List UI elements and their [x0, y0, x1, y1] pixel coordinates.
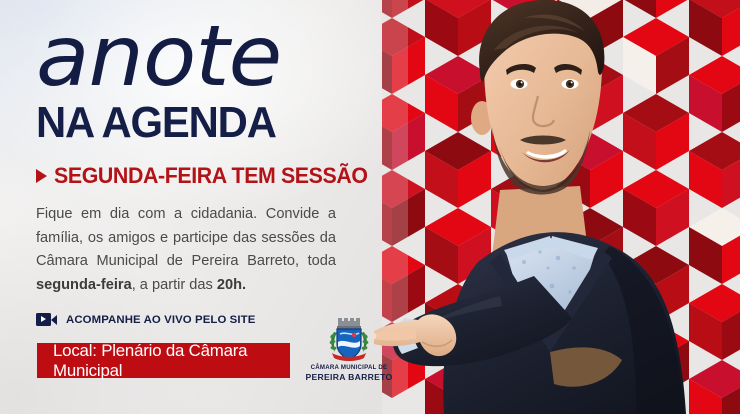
- location-label: Local: Plenário da Câmara Municipal: [53, 341, 288, 381]
- video-camera-icon: [36, 313, 57, 326]
- location-bar: Local: Plenário da Câmara Municipal: [37, 343, 290, 378]
- text-content-area: anote NA AGENDA SEGUNDA-FEIRA TEM SESSÃO…: [0, 0, 400, 414]
- coat-of-arms-icon: [328, 318, 370, 362]
- subheadline-text: SEGUNDA-FEIRA TEM SESSÃO: [54, 163, 368, 189]
- isometric-cube-pattern: [382, 0, 740, 414]
- logo-line-2: PEREIRA BARRETO: [297, 372, 401, 382]
- headline-bold: NA AGENDA: [36, 101, 276, 145]
- headline-script: anote: [36, 14, 281, 98]
- promotional-banner: anote NA AGENDA SEGUNDA-FEIRA TEM SESSÃO…: [0, 0, 740, 414]
- subheadline-row: SEGUNDA-FEIRA TEM SESSÃO: [36, 163, 377, 189]
- triangle-right-icon: [36, 169, 47, 183]
- logo-line-1: CÂMARA MUNICIPAL DE: [297, 364, 401, 371]
- body-paragraph: Fique em dia com a cidadania. Convide a …: [36, 203, 336, 297]
- live-stream-label: ACOMPANHE AO VIVO PELO SITE: [66, 314, 255, 326]
- institution-logo: CÂMARA MUNICIPAL DE PEREIRA BARRETO: [297, 318, 401, 394]
- live-stream-callout[interactable]: ACOMPANHE AO VIVO PELO SITE: [36, 313, 255, 326]
